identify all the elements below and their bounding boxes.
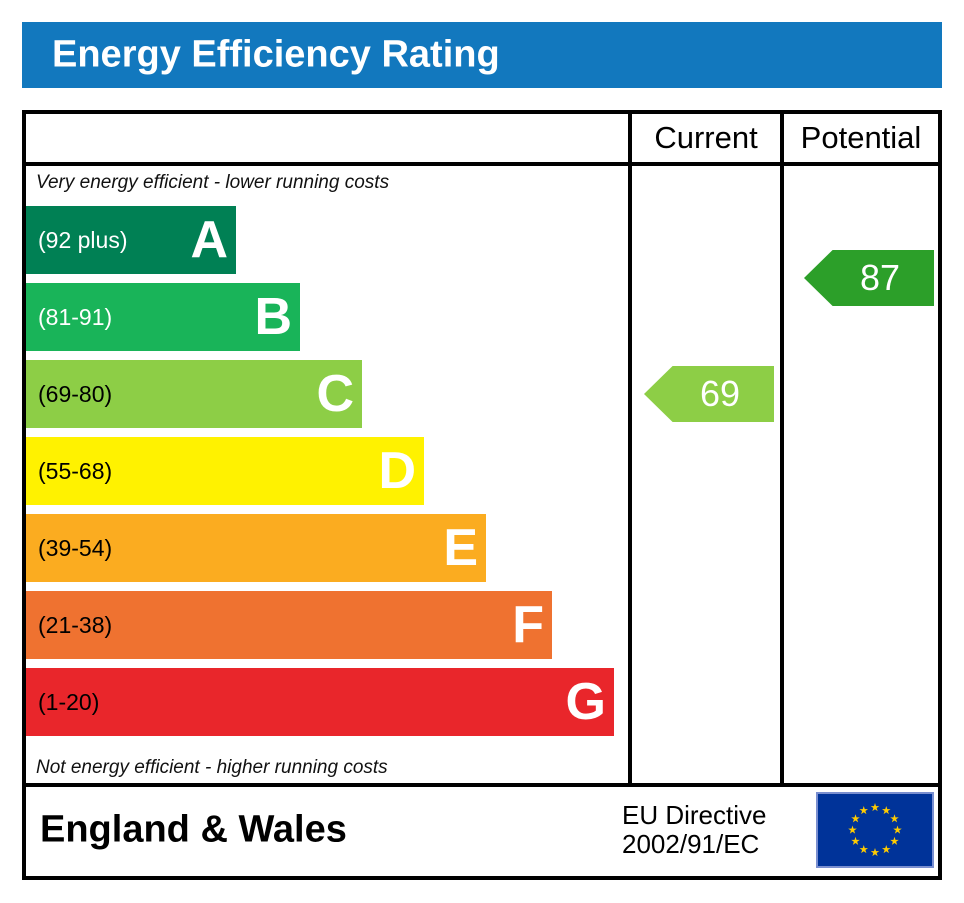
column-divider-current bbox=[628, 166, 632, 783]
page-title: Energy Efficiency Rating bbox=[52, 34, 500, 77]
band-bar-b: (81-91) B bbox=[26, 283, 300, 351]
column-header-potential: Potential bbox=[780, 114, 938, 162]
band-bar-d: (55-68) D bbox=[26, 437, 424, 505]
band-row-f: (21-38) F bbox=[26, 591, 552, 659]
epc-rating-table: Current Potential Very energy efficient … bbox=[22, 110, 942, 880]
bands-pane: Very energy efficient - lower running co… bbox=[26, 166, 628, 783]
footer-region-label: England & Wales bbox=[40, 808, 347, 851]
footer-directive-line1: EU Directive bbox=[622, 800, 766, 829]
potential-rating-arrow: 87 bbox=[804, 250, 934, 306]
band-bar-e: (39-54) E bbox=[26, 514, 486, 582]
table-body: Very energy efficient - lower running co… bbox=[26, 166, 938, 787]
band-letter-f: F bbox=[512, 599, 544, 651]
band-bar-f: (21-38) F bbox=[26, 591, 552, 659]
band-letter-e: E bbox=[443, 522, 478, 574]
band-range-b: (81-91) bbox=[38, 306, 112, 329]
band-range-e: (39-54) bbox=[38, 537, 112, 560]
caption-not-efficient: Not energy efficient - higher running co… bbox=[36, 757, 388, 779]
column-header-blank bbox=[26, 114, 628, 162]
band-range-f: (21-38) bbox=[38, 614, 112, 637]
current-rating-value: 69 bbox=[700, 373, 740, 415]
band-range-g: (1-20) bbox=[38, 691, 99, 714]
table-footer-row: England & Wales EU Directive 2002/91/EC bbox=[26, 783, 938, 876]
column-header-current: Current bbox=[628, 114, 780, 162]
eu-flag-icon bbox=[816, 792, 934, 868]
band-letter-b: B bbox=[254, 291, 292, 343]
band-bar-a: (92 plus) A bbox=[26, 206, 236, 274]
current-rating-arrow: 69 bbox=[644, 366, 774, 422]
caption-very-efficient: Very energy efficient - lower running co… bbox=[36, 172, 389, 194]
footer-directive-line2: 2002/91/EC bbox=[622, 830, 766, 859]
band-range-d: (55-68) bbox=[38, 460, 112, 483]
band-row-b: (81-91) B bbox=[26, 283, 300, 351]
band-letter-c: C bbox=[316, 368, 354, 420]
table-header-row: Current Potential bbox=[26, 114, 938, 166]
title-banner: Energy Efficiency Rating bbox=[22, 22, 942, 88]
band-row-a: (92 plus) A bbox=[26, 206, 236, 274]
band-bar-c: (69-80) C bbox=[26, 360, 362, 428]
band-letter-d: D bbox=[378, 445, 416, 497]
band-row-e: (39-54) E bbox=[26, 514, 486, 582]
band-letter-a: A bbox=[190, 214, 228, 266]
band-row-c: (69-80) C bbox=[26, 360, 362, 428]
band-row-d: (55-68) D bbox=[26, 437, 424, 505]
potential-rating-value: 87 bbox=[860, 257, 900, 299]
band-range-c: (69-80) bbox=[38, 383, 112, 406]
band-bar-g: (1-20) G bbox=[26, 668, 614, 736]
band-row-g: (1-20) G bbox=[26, 668, 614, 736]
band-letter-g: G bbox=[566, 676, 606, 728]
band-range-a: (92 plus) bbox=[38, 229, 127, 252]
footer-directive-label: EU Directive 2002/91/EC bbox=[622, 800, 766, 858]
column-divider-potential bbox=[780, 166, 784, 783]
band-bars-group: (92 plus) A (81-91) B (69-80) C bbox=[26, 206, 628, 746]
